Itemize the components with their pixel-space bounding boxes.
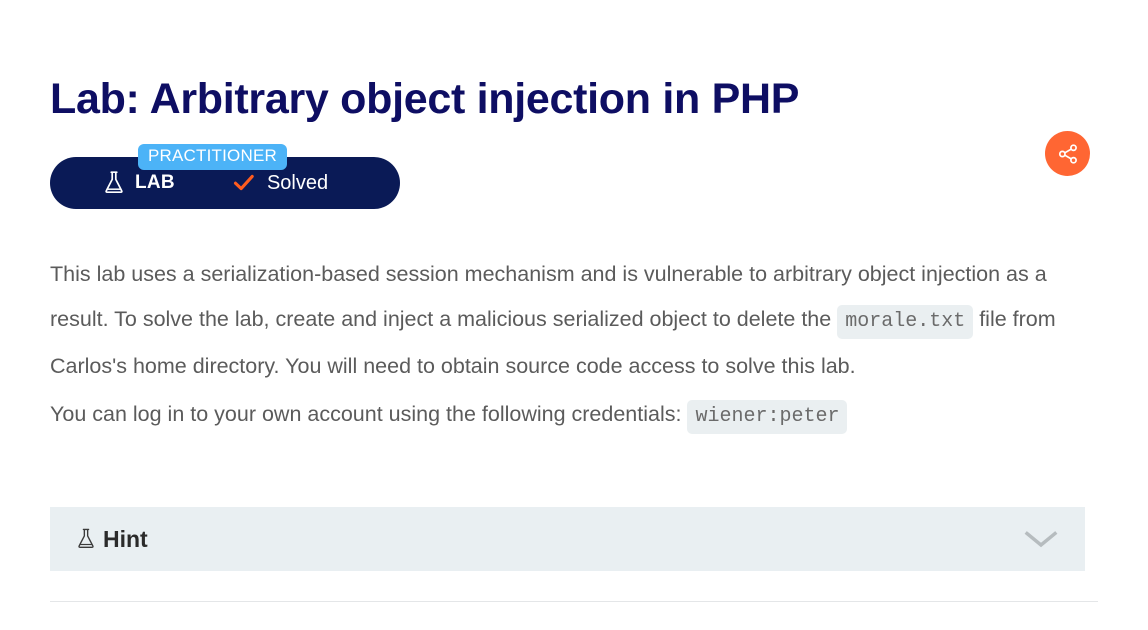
lab-description: This lab uses a serialization-based sess… bbox=[50, 252, 1066, 439]
chevron-down-icon[interactable] bbox=[1022, 527, 1060, 551]
hint-label: Hint bbox=[103, 526, 148, 553]
page-title: Lab: Arbitrary object injection in PHP bbox=[50, 76, 799, 123]
lab-status-right: Solved bbox=[233, 172, 328, 195]
code-chip-credentials: wiener:peter bbox=[687, 400, 847, 434]
share-icon bbox=[1056, 142, 1080, 166]
lab-label: LAB bbox=[135, 172, 175, 194]
flask-icon bbox=[75, 526, 97, 552]
lab-description-paragraph-1: This lab uses a serialization-based sess… bbox=[50, 252, 1066, 389]
flask-icon bbox=[102, 170, 126, 196]
lab-description-paragraph-2: You can log in to your own account using… bbox=[50, 392, 1066, 439]
code-chip-morale-txt: morale.txt bbox=[837, 305, 973, 339]
credentials-text: You can log in to your own account using… bbox=[50, 402, 687, 426]
hint-accordion-left: Hint bbox=[75, 526, 148, 553]
difficulty-level-tag: PRACTITIONER bbox=[138, 144, 287, 170]
lab-status-widget: LAB Solved PRACTITIONER bbox=[50, 144, 400, 209]
lab-status-left: LAB bbox=[102, 170, 175, 196]
hint-accordion[interactable]: Hint bbox=[50, 507, 1085, 571]
share-button[interactable] bbox=[1045, 131, 1090, 176]
lab-page: Lab: Arbitrary object injection in PHP L… bbox=[0, 0, 1148, 630]
section-divider bbox=[50, 601, 1098, 602]
check-icon bbox=[233, 173, 255, 193]
solved-status-label: Solved bbox=[267, 172, 328, 195]
